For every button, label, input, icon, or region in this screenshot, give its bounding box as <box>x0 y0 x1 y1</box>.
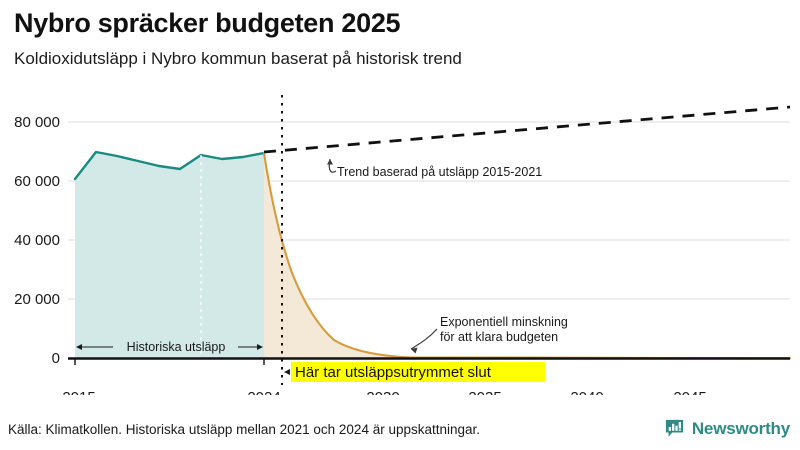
chart-plot-area: 80 000 60 000 40 000 20 000 0 <box>0 95 800 395</box>
chart-header: Nybro spräcker budgeten 2025 Koldioxidut… <box>14 6 784 70</box>
x-tick-label: 2040 <box>570 389 603 395</box>
chart-svg: 80 000 60 000 40 000 20 000 0 <box>0 95 800 395</box>
chart-footer: Källa: Klimatkollen. Historiska utsläpp … <box>0 418 800 450</box>
trend-dashed-line <box>264 107 790 152</box>
y-tick-label: 40 000 <box>14 232 60 249</box>
x-tick-label: 2035 <box>468 389 501 395</box>
budget-end-callout-label: Här tar utsläppsutrymmet slut <box>295 364 492 381</box>
x-tick-label: 2024 <box>247 389 280 395</box>
x-tick-label: 2045 <box>673 389 706 395</box>
brand-logo: Newsworthy <box>664 418 790 439</box>
trend-annotation-label: Trend baserad på utsläpp 2015-2021 <box>337 165 542 179</box>
trend-annotation-arrowhead <box>327 159 333 165</box>
x-tick-label: 2015 <box>62 389 95 395</box>
x-axis-ticks: 2015 2024 2030 2035 2040 2045 <box>62 389 706 395</box>
chart-subtitle: Koldioxidutsläpp i Nybro kommun baserat … <box>14 48 784 70</box>
exponential-annotation-line1: Exponentiell minskning <box>440 315 568 329</box>
page-title: Nybro spräcker budgeten 2025 <box>14 6 784 40</box>
exponential-annotation-group: Exponentiell minskning för att klara bud… <box>411 315 568 354</box>
y-axis-ticks: 80 000 60 000 40 000 20 000 0 <box>14 114 60 367</box>
historical-emissions-area <box>75 152 264 358</box>
exponential-annotation-leader <box>411 329 437 349</box>
source-note: Källa: Klimatkollen. Historiska utsläpp … <box>8 422 480 437</box>
y-tick-label: 20 000 <box>14 291 60 308</box>
budget-end-callout-group: Här tar utsläppsutrymmet slut <box>284 362 545 382</box>
bar-chart-bubble-icon <box>664 418 685 439</box>
trend-annotation-group: Trend baserad på utsläpp 2015-2021 <box>327 159 542 179</box>
historical-span-label: Historiska utsläpp <box>127 340 226 354</box>
x-tick-label: 2030 <box>366 389 399 395</box>
y-tick-label: 80 000 <box>14 114 60 131</box>
y-tick-label: 60 000 <box>14 173 60 190</box>
exponential-annotation-line2: för att klara budgeten <box>440 330 558 344</box>
chart-root: Nybro spräcker budgeten 2025 Koldioxidut… <box>0 0 800 450</box>
brand-name: Newsworthy <box>692 419 790 439</box>
budget-end-callout-arrow <box>284 369 290 375</box>
y-tick-label: 0 <box>52 350 60 367</box>
